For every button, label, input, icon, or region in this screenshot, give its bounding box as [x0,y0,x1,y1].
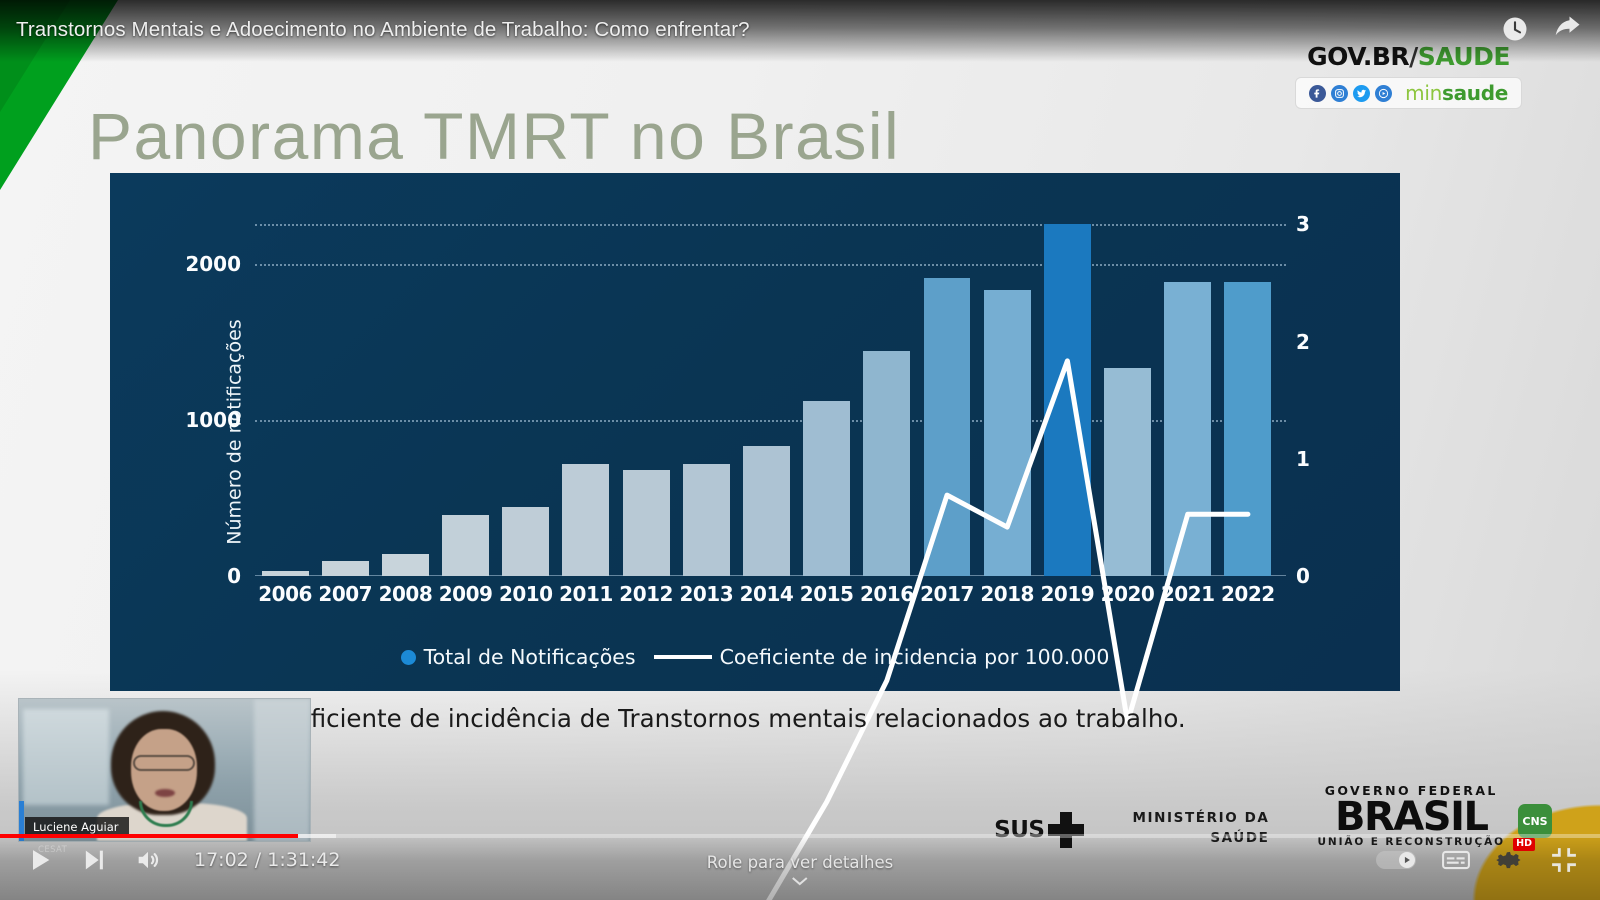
y-tick-left: 2000 [185,252,241,276]
speaker-webcam-overlay: Luciene Aguiar [18,698,311,842]
player-top-bar: Transtornos Mentais e Adoecimento no Amb… [0,0,1600,62]
minsaude-wordmark: minsaude [1405,81,1508,105]
chevron-down-icon [791,876,809,886]
webcam-speaker-glasses [133,755,195,771]
legend-item-bar: Total de Notificações [401,645,636,669]
chart-panel: Número de notificações CI por 100.000 Tr… [110,173,1400,691]
caption-line-2: 022. [196,737,1386,774]
play-icon[interactable] [26,846,54,874]
legend-dot-icon [401,650,416,665]
x-tick-2021: 2021 [1158,582,1218,606]
progress-bar-track[interactable] [0,834,1600,838]
x-axis-labels: 2006200720082009201020112012201320142015… [255,582,1278,606]
x-tick-2013: 2013 [676,582,736,606]
webcam-speaker-mouth [155,789,175,797]
brasil-wordmark: BRASIL [1317,798,1505,836]
ministry-line-1: MINISTÉRIO DA [1132,808,1269,828]
top-right-controls [1500,14,1582,44]
video-title[interactable]: Transtornos Mentais e Adoecimento no Amb… [0,0,750,41]
x-tick-2022: 2022 [1218,582,1278,606]
player-right-controls: HD [1376,846,1578,874]
slide-caption: sos e coeficiente de incidência de Trans… [196,700,1386,774]
x-tick-2010: 2010 [496,582,556,606]
webcam-right-panel [254,699,310,842]
youtube-icon [1375,85,1392,102]
x-tick-2009: 2009 [436,582,496,606]
legend-label-bar: Total de Notificações [424,645,636,669]
x-tick-2018: 2018 [977,582,1037,606]
quality-hd-badge: HD [1513,838,1535,851]
exit-fullscreen-icon[interactable] [1550,846,1578,874]
x-tick-2017: 2017 [917,582,977,606]
x-tick-2014: 2014 [736,582,796,606]
x-tick-2011: 2011 [556,582,616,606]
legend-item-line: Coeficiente de incidencia por 100.000 [654,645,1110,669]
y-tick-left: 1000 [185,408,241,432]
scroll-hint[interactable]: Role para ver detalhes [707,853,893,886]
webcam-window-light [23,709,109,805]
x-tick-2007: 2007 [315,582,375,606]
minsaude-suffix: saude [1442,81,1508,105]
y-axis-left-title: Número de notificações [224,319,246,544]
x-tick-2016: 2016 [857,582,917,606]
minsaude-prefix: min [1405,81,1442,105]
next-icon[interactable] [80,846,108,874]
x-tick-2019: 2019 [1037,582,1097,606]
share-icon[interactable] [1552,14,1582,44]
y-tick-right: 1 [1296,447,1310,471]
clock-icon[interactable] [1500,14,1530,44]
legend-line-icon [654,655,712,659]
player-left-controls: 17:02 / 1:31:42 [26,846,340,874]
instagram-icon [1331,85,1348,102]
settings-gear-icon[interactable]: HD [1496,846,1524,874]
y-tick-right: 0 [1296,564,1310,588]
x-tick-2015: 2015 [797,582,857,606]
slide-title: Panorama TMRT no Brasil [88,98,900,174]
progress-played [0,834,298,838]
cns-badge: CNS [1518,804,1552,838]
x-tick-2020: 2020 [1097,582,1157,606]
scroll-hint-text: Role para ver detalhes [707,853,893,872]
youtube-player-page: GOV.BR/SAUDE minsaude [0,0,1600,900]
x-tick-2006: 2006 [255,582,315,606]
chart-legend: Total de Notificações Coeficiente de inc… [110,645,1400,669]
y-tick-left: 0 [227,564,241,588]
time-display: 17:02 / 1:31:42 [194,849,340,871]
autoplay-knob [1399,852,1415,868]
x-tick-2012: 2012 [616,582,676,606]
subtitles-icon[interactable] [1442,846,1470,874]
autoplay-toggle[interactable] [1376,851,1416,869]
y-tick-right: 2 [1296,330,1310,354]
volume-icon[interactable] [134,846,162,874]
legend-label-line: Coeficiente de incidencia por 100.000 [720,645,1110,669]
minsaude-social-pill: minsaude [1295,77,1522,109]
facebook-icon [1309,85,1326,102]
caption-line-1: sos e coeficiente de incidência de Trans… [196,700,1386,737]
x-tick-2008: 2008 [375,582,435,606]
twitter-icon [1353,85,1370,102]
y-tick-right: 3 [1296,212,1310,236]
plot-area: 010002000 0123 [255,201,1278,576]
